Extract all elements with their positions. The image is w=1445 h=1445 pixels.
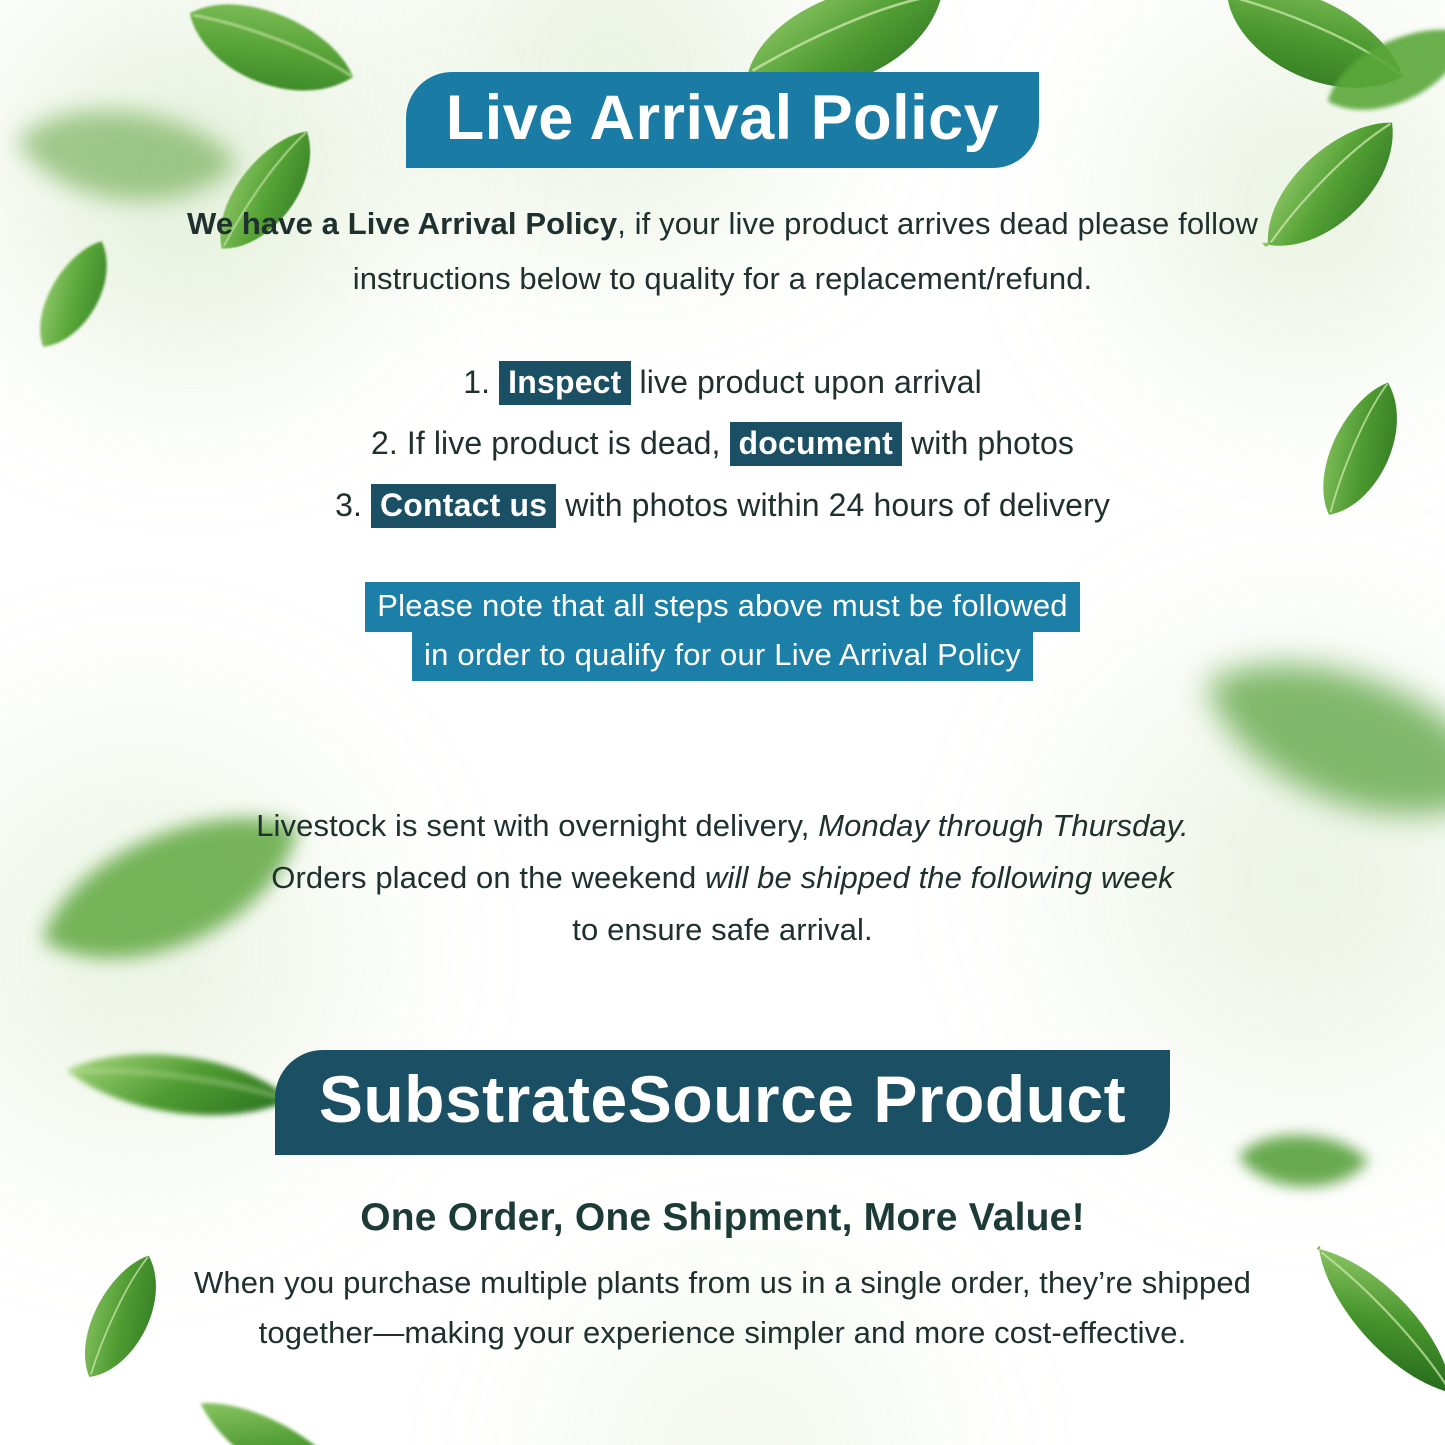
product-body-line1: When you purchase multiple plants from u…: [194, 1265, 1251, 1300]
step-1-number: 1.: [463, 364, 490, 400]
substratesource-product-banner: SubstrateSource Product: [275, 1050, 1170, 1155]
substratesource-product-banner-wrap: SubstrateSource Product: [0, 1050, 1445, 1155]
step-3-after: with photos within 24 hours of delivery: [565, 487, 1110, 523]
step-1-highlight: Inspect: [499, 361, 630, 405]
shipping-line1-italic: Monday through Thursday.: [818, 808, 1189, 843]
live-arrival-policy-banner-wrap: Live Arrival Policy: [0, 72, 1445, 168]
policy-note-line-2-wrap: in order to qualify for our Live Arrival…: [0, 635, 1445, 675]
shipping-paragraph: Livestock is sent with overnight deliver…: [0, 800, 1445, 956]
product-body-line2: together—making your experience simpler …: [259, 1315, 1187, 1350]
shipping-line3: to ensure safe arrival.: [572, 912, 872, 947]
shipping-line2-italic: will be shipped the following week: [705, 860, 1174, 895]
policy-note-line-1: Please note that all steps above must be…: [365, 582, 1080, 632]
policy-step-1: 1. Inspect live product upon arrival: [0, 352, 1445, 413]
policy-intro-line1: We have a Live Arrival Policy, if your l…: [187, 206, 1258, 241]
shipping-line1-normal: Livestock is sent with overnight deliver…: [256, 808, 809, 843]
policy-intro-paragraph: We have a Live Arrival Policy, if your l…: [0, 196, 1445, 306]
policy-step-3: 3. Contact us with photos within 24 hour…: [0, 475, 1445, 536]
policy-note-line-2: in order to qualify for our Live Arrival…: [412, 631, 1033, 681]
step-2-before: If live product is dead,: [407, 425, 721, 461]
step-2-after: with photos: [911, 425, 1074, 461]
shipping-line2: Orders placed on the weekend will be shi…: [271, 860, 1173, 895]
step-2-highlight: document: [730, 422, 903, 466]
live-arrival-policy-page: Live Arrival Policy We have a Live Arriv…: [0, 0, 1445, 1445]
step-3-number: 3.: [335, 487, 362, 523]
product-body-paragraph: When you purchase multiple plants from u…: [0, 1258, 1445, 1358]
policy-note-block: Please note that all steps above must be…: [0, 586, 1445, 685]
policy-steps-list: 1. Inspect live product upon arrival 2. …: [0, 352, 1445, 536]
policy-step-2: 2. If live product is dead, document wit…: [0, 413, 1445, 474]
shipping-line2-normal: Orders placed on the weekend: [271, 860, 696, 895]
policy-note-line-1-wrap: Please note that all steps above must be…: [0, 586, 1445, 626]
step-2-number: 2.: [371, 425, 398, 461]
policy-intro-line2: instructions below to quality for a repl…: [353, 261, 1093, 296]
step-1-after: live product upon arrival: [640, 364, 982, 400]
policy-intro-bold-lead: We have a Live Arrival Policy: [187, 206, 617, 241]
page-content: Live Arrival Policy We have a Live Arriv…: [0, 0, 1445, 1445]
policy-intro-line1-rest: , if your live product arrives dead plea…: [617, 206, 1258, 241]
live-arrival-policy-banner: Live Arrival Policy: [406, 72, 1039, 168]
step-3-highlight: Contact us: [371, 484, 556, 528]
shipping-line1: Livestock is sent with overnight deliver…: [256, 808, 1189, 843]
product-subheading: One Order, One Shipment, More Value!: [0, 1196, 1445, 1240]
